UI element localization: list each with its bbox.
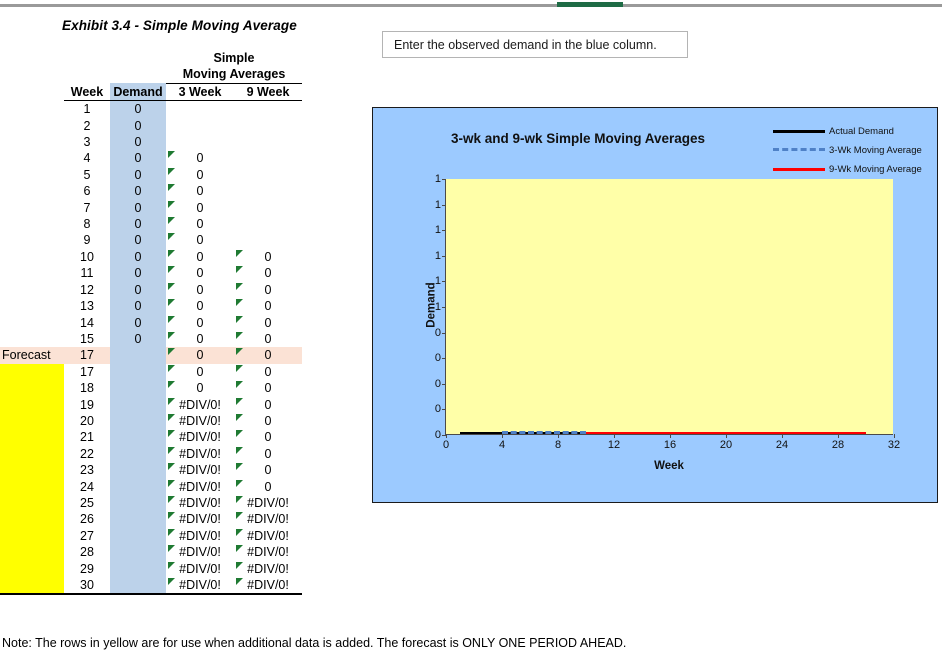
cell-3-week-value: #DIV/0! <box>179 545 221 559</box>
cell-9-week-value: 0 <box>265 266 272 280</box>
cell-9-week: 0 <box>234 331 302 347</box>
cell-demand[interactable] <box>110 577 166 594</box>
cell-9-week-value: 0 <box>265 447 272 461</box>
table-row: 26#DIV/0!#DIV/0! <box>0 511 302 527</box>
cell-9-week-value: 0 <box>265 398 272 412</box>
cell-9-week-value: 0 <box>265 463 272 477</box>
cell-week: 13 <box>64 298 110 314</box>
cell-3-week: #DIV/0! <box>166 511 234 527</box>
cell-9-week <box>234 200 302 216</box>
cell-demand[interactable] <box>110 429 166 445</box>
cell-3-week-value: #DIV/0! <box>179 529 221 543</box>
cell-3-week-value: #DIV/0! <box>179 463 221 477</box>
cell-demand[interactable]: 0 <box>110 150 166 166</box>
error-indicator-icon <box>236 545 243 552</box>
column-header-demand: Demand <box>110 83 166 100</box>
legend-item-ma9: 9-Wk Moving Average <box>773 161 923 177</box>
x-tick-label: 16 <box>664 439 676 451</box>
cell-3-week-value: 0 <box>197 151 204 165</box>
cell-demand[interactable]: 0 <box>110 331 166 347</box>
cell-week: 17 <box>64 364 110 380</box>
cell-demand[interactable]: 0 <box>110 200 166 216</box>
y-tick-label: 1 <box>435 301 441 313</box>
cell-9-week-value: #DIV/0! <box>247 545 289 559</box>
note-spacer-cell <box>0 101 64 118</box>
error-indicator-icon <box>236 512 243 519</box>
cell-3-week-value: 0 <box>197 316 204 330</box>
cell-week: 25 <box>64 495 110 511</box>
error-indicator-icon <box>168 217 175 224</box>
x-tick-label: 8 <box>555 439 561 451</box>
cell-3-week: 0 <box>166 216 234 232</box>
cell-3-week-value: 0 <box>197 365 204 379</box>
cell-3-week-value: #DIV/0! <box>179 480 221 494</box>
ribbon-active-tab[interactable] <box>557 2 623 7</box>
error-indicator-icon <box>168 463 175 470</box>
cell-3-week: #DIV/0! <box>166 561 234 577</box>
cell-9-week-value: #DIV/0! <box>247 496 289 510</box>
cell-week: 2 <box>64 118 110 134</box>
cell-9-week <box>234 183 302 199</box>
legend-item-actual-demand: Actual Demand <box>773 123 923 139</box>
error-indicator-icon <box>168 496 175 503</box>
cell-demand[interactable] <box>110 364 166 380</box>
table-row: 19#DIV/0!0 <box>0 397 302 413</box>
cell-week: 12 <box>64 282 110 298</box>
cell-demand[interactable] <box>110 462 166 478</box>
table-row: 25#DIV/0!#DIV/0! <box>0 495 302 511</box>
error-indicator-icon <box>168 414 175 421</box>
worksheet-grid: SimpleMoving AveragesWeekDemand3 Week9 W… <box>0 50 302 595</box>
error-indicator-icon <box>236 283 243 290</box>
yellow-spacer-cell <box>0 462 64 478</box>
cell-3-week-value: #DIV/0! <box>179 398 221 412</box>
column-header-3-week: 3 Week <box>166 83 234 100</box>
error-indicator-icon <box>236 299 243 306</box>
cell-demand[interactable] <box>110 528 166 544</box>
cell-week: 5 <box>64 167 110 183</box>
cell-3-week: #DIV/0! <box>166 495 234 511</box>
y-tick-label: 1 <box>435 224 441 236</box>
cell-demand[interactable] <box>110 413 166 429</box>
cell-3-week: 0 <box>166 282 234 298</box>
cell-9-week: #DIV/0! <box>234 544 302 560</box>
cell-9-week-value: #DIV/0! <box>247 562 289 576</box>
yellow-spacer-cell <box>0 446 64 462</box>
cell-9-week <box>234 118 302 134</box>
page-title: Exhibit 3.4 - Simple Moving Average <box>62 18 382 33</box>
table-group-header-row-2: Moving Averages <box>0 66 302 83</box>
cell-3-week: #DIV/0! <box>166 413 234 429</box>
y-tick-label: 0 <box>435 352 441 364</box>
table-row: 10000 <box>0 249 302 265</box>
note-spacer-cell <box>0 134 64 150</box>
cell-9-week-value: 0 <box>265 365 272 379</box>
note-spacer-cell <box>0 167 64 183</box>
error-indicator-icon <box>236 250 243 257</box>
column-header-week: Week <box>64 83 110 100</box>
table-row: 30#DIV/0!#DIV/0! <box>0 577 302 594</box>
cell-3-week-value: 0 <box>197 233 204 247</box>
cell-demand[interactable] <box>110 397 166 413</box>
cell-9-week: #DIV/0! <box>234 495 302 511</box>
cell-9-week: 0 <box>234 364 302 380</box>
cell-3-week-value: 0 <box>197 250 204 264</box>
cell-week: 18 <box>64 380 110 396</box>
error-indicator-icon <box>168 233 175 240</box>
error-indicator-icon <box>168 381 175 388</box>
plot-area: 11111100000 048121620242832 <box>445 179 893 435</box>
cell-demand[interactable]: 0 <box>110 118 166 134</box>
table-row: 600 <box>0 183 302 199</box>
error-indicator-icon <box>236 447 243 454</box>
cell-3-week-value: #DIV/0! <box>179 496 221 510</box>
error-indicator-icon <box>168 299 175 306</box>
ribbon-strip <box>0 4 942 7</box>
cell-week: 24 <box>64 479 110 495</box>
cell-week: 3 <box>64 134 110 150</box>
cell-3-week-value: 0 <box>197 283 204 297</box>
yellow-spacer-cell <box>0 495 64 511</box>
cell-9-week: 0 <box>234 380 302 396</box>
cell-3-week <box>166 118 234 134</box>
cell-9-week-value: 0 <box>265 283 272 297</box>
cell-week: 14 <box>64 315 110 331</box>
note-spacer-cell <box>0 232 64 248</box>
cell-week: 17 <box>64 347 110 363</box>
cell-3-week-value: #DIV/0! <box>179 562 221 576</box>
legend-label-actual-demand: Actual Demand <box>829 126 894 137</box>
series-3wk-moving-average <box>502 431 586 434</box>
error-indicator-icon <box>168 250 175 257</box>
cell-9-week: #DIV/0! <box>234 577 302 594</box>
cell-9-week: 0 <box>234 249 302 265</box>
table-row: 11000 <box>0 265 302 281</box>
cell-demand[interactable]: 0 <box>110 134 166 150</box>
cell-week: 9 <box>64 232 110 248</box>
cell-3-week: 0 <box>166 347 234 363</box>
y-tick-label: 0 <box>435 378 441 390</box>
cell-9-week <box>234 167 302 183</box>
cell-9-week-value: 0 <box>265 332 272 346</box>
cell-3-week: #DIV/0! <box>166 479 234 495</box>
cell-demand[interactable]: 0 <box>110 183 166 199</box>
error-indicator-icon <box>236 562 243 569</box>
cell-demand[interactable]: 0 <box>110 282 166 298</box>
error-indicator-icon <box>236 316 243 323</box>
x-tick-label: 0 <box>443 439 449 451</box>
legend-swatch-ma9 <box>773 163 825 175</box>
cell-3-week-value: 0 <box>197 201 204 215</box>
error-indicator-icon <box>236 430 243 437</box>
error-indicator-icon <box>168 545 175 552</box>
yellow-spacer-cell <box>0 561 64 577</box>
yellow-spacer-cell <box>0 413 64 429</box>
table-row: 13000 <box>0 298 302 314</box>
cell-9-week: 0 <box>234 298 302 314</box>
error-indicator-icon <box>168 348 175 355</box>
cell-9-week-value: #DIV/0! <box>247 578 289 592</box>
table-row: 800 <box>0 216 302 232</box>
cell-week: 21 <box>64 429 110 445</box>
error-indicator-icon <box>168 365 175 372</box>
cell-3-week-value: #DIV/0! <box>179 512 221 526</box>
table-row: 20 <box>0 118 302 134</box>
cell-demand[interactable] <box>110 479 166 495</box>
error-indicator-icon <box>236 266 243 273</box>
legend-label-ma9: 9-Wk Moving Average <box>829 164 922 175</box>
cell-9-week-value: 0 <box>265 250 272 264</box>
instruction-text: Enter the observed demand in the blue co… <box>394 38 657 52</box>
note-spacer-cell <box>0 200 64 216</box>
error-indicator-icon <box>168 529 175 536</box>
cell-week: 19 <box>64 397 110 413</box>
cell-9-week-value: #DIV/0! <box>247 512 289 526</box>
cell-9-week-value: 0 <box>265 299 272 313</box>
cell-3-week-value: #DIV/0! <box>179 447 221 461</box>
cell-3-week: 0 <box>166 183 234 199</box>
cell-3-week: #DIV/0! <box>166 462 234 478</box>
cell-week: 4 <box>64 150 110 166</box>
cell-3-week-value: #DIV/0! <box>179 430 221 444</box>
column-header-9-week: 9 Week <box>234 83 302 100</box>
error-indicator-icon <box>168 266 175 273</box>
cell-3-week-value: 0 <box>197 184 204 198</box>
cell-week: 10 <box>64 249 110 265</box>
table-row: 1800 <box>0 380 302 396</box>
error-indicator-icon <box>236 529 243 536</box>
note-spacer-cell <box>0 118 64 134</box>
error-indicator-icon <box>236 496 243 503</box>
cell-9-week-value: 0 <box>265 381 272 395</box>
cell-9-week: 0 <box>234 429 302 445</box>
cell-3-week: 0 <box>166 315 234 331</box>
table-row: 30 <box>0 134 302 150</box>
cell-demand[interactable]: 0 <box>110 101 166 118</box>
x-tick-label: 28 <box>832 439 844 451</box>
cell-demand[interactable] <box>110 511 166 527</box>
cell-9-week-value: 0 <box>265 316 272 330</box>
error-indicator-icon <box>168 283 175 290</box>
error-indicator-icon <box>168 168 175 175</box>
cell-week: 27 <box>64 528 110 544</box>
cell-9-week: 0 <box>234 347 302 363</box>
y-tick-label: 0 <box>435 327 441 339</box>
cell-3-week: 0 <box>166 331 234 347</box>
cell-demand[interactable]: 0 <box>110 249 166 265</box>
cell-3-week-value: 0 <box>197 381 204 395</box>
note-spacer-cell <box>0 216 64 232</box>
series-9wk-moving-average <box>586 432 866 434</box>
cell-9-week <box>234 216 302 232</box>
table-row: 22#DIV/0!0 <box>0 446 302 462</box>
cell-9-week: 0 <box>234 282 302 298</box>
table-row: 28#DIV/0!#DIV/0! <box>0 544 302 560</box>
cell-3-week: 0 <box>166 364 234 380</box>
moving-average-chart[interactable]: 3-wk and 9-wk Simple Moving Averages Act… <box>372 107 938 503</box>
cell-9-week: 0 <box>234 265 302 281</box>
cell-9-week: #DIV/0! <box>234 528 302 544</box>
cell-3-week: 0 <box>166 265 234 281</box>
error-indicator-icon <box>168 447 175 454</box>
cell-3-week-value: 0 <box>197 348 204 362</box>
cell-9-week <box>234 101 302 118</box>
table-row: 24#DIV/0!0 <box>0 479 302 495</box>
cell-9-week: 0 <box>234 462 302 478</box>
cell-demand[interactable] <box>110 544 166 560</box>
yellow-spacer-cell <box>0 544 64 560</box>
cell-demand[interactable] <box>110 446 166 462</box>
error-indicator-icon <box>236 578 243 585</box>
error-indicator-icon <box>168 316 175 323</box>
cell-9-week-value: 0 <box>265 480 272 494</box>
yellow-spacer-cell <box>0 429 64 445</box>
error-indicator-icon <box>168 578 175 585</box>
footnote: Note: The rows in yellow are for use whe… <box>2 636 932 650</box>
cell-3-week-value: #DIV/0! <box>179 578 221 592</box>
table-row: 29#DIV/0!#DIV/0! <box>0 561 302 577</box>
table-row: 14000 <box>0 315 302 331</box>
cell-week: 26 <box>64 511 110 527</box>
cell-3-week: #DIV/0! <box>166 544 234 560</box>
error-indicator-icon <box>168 151 175 158</box>
moving-average-table: SimpleMoving AveragesWeekDemand3 Week9 W… <box>0 50 320 595</box>
cell-9-week: 0 <box>234 413 302 429</box>
error-indicator-icon <box>168 184 175 191</box>
cell-demand[interactable]: 0 <box>110 315 166 331</box>
cell-3-week: 0 <box>166 150 234 166</box>
x-tick-label: 20 <box>720 439 732 451</box>
cell-demand[interactable]: 0 <box>110 232 166 248</box>
note-spacer-cell <box>0 150 64 166</box>
yellow-spacer-cell <box>0 528 64 544</box>
error-indicator-icon <box>236 365 243 372</box>
yellow-spacer-cell <box>0 511 64 527</box>
cell-9-week <box>234 150 302 166</box>
cell-9-week-value: 0 <box>265 414 272 428</box>
cell-3-week-value: 0 <box>197 332 204 346</box>
cell-week: 6 <box>64 183 110 199</box>
y-tick-label: 1 <box>435 250 441 262</box>
legend-item-ma3: 3-Wk Moving Average <box>773 142 923 158</box>
legend-swatch-ma3 <box>773 144 825 156</box>
cell-3-week: 0 <box>166 380 234 396</box>
yellow-spacer-cell <box>0 364 64 380</box>
cell-3-week: 0 <box>166 200 234 216</box>
cell-3-week-value: 0 <box>197 299 204 313</box>
cell-9-week <box>234 134 302 150</box>
error-indicator-icon <box>236 348 243 355</box>
legend-label-ma3: 3-Wk Moving Average <box>829 145 922 156</box>
instruction-callout: Enter the observed demand in the blue co… <box>382 31 688 58</box>
x-axis-title: Week <box>445 460 893 472</box>
chart-legend: Actual Demand 3-Wk Moving Average 9-Wk M… <box>773 123 923 180</box>
table-row: 23#DIV/0!0 <box>0 462 302 478</box>
cell-demand[interactable]: 0 <box>110 298 166 314</box>
table-row: 900 <box>0 232 302 248</box>
legend-swatch-actual-demand <box>773 125 825 137</box>
cell-3-week: #DIV/0! <box>166 429 234 445</box>
forecast-label: Forecast <box>0 347 64 363</box>
error-indicator-icon <box>168 332 175 339</box>
cell-demand[interactable]: 0 <box>110 265 166 281</box>
chart-title: 3-wk and 9-wk Simple Moving Averages <box>413 131 743 146</box>
cell-week: 29 <box>64 561 110 577</box>
cell-demand[interactable] <box>110 561 166 577</box>
cell-3-week: 0 <box>166 249 234 265</box>
cell-week: 8 <box>64 216 110 232</box>
cell-demand[interactable] <box>110 495 166 511</box>
yellow-spacer-cell <box>0 397 64 413</box>
cell-week: 20 <box>64 413 110 429</box>
yellow-spacer-cell <box>0 577 64 594</box>
note-spacer-cell <box>0 249 64 265</box>
cell-demand[interactable]: 0 <box>110 167 166 183</box>
table-row: 400 <box>0 150 302 166</box>
note-spacer-cell <box>0 265 64 281</box>
y-tick-label: 1 <box>435 275 441 287</box>
cell-3-week: #DIV/0! <box>166 446 234 462</box>
cell-week: 23 <box>64 462 110 478</box>
error-indicator-icon <box>168 512 175 519</box>
table-row: 15000 <box>0 331 302 347</box>
table-row: 21#DIV/0!0 <box>0 429 302 445</box>
y-tick-label: 1 <box>435 173 441 185</box>
error-indicator-icon <box>236 480 243 487</box>
table-header-row: WeekDemand3 Week9 Week <box>0 83 302 100</box>
error-indicator-icon <box>168 201 175 208</box>
cell-3-week: #DIV/0! <box>166 577 234 594</box>
table-row: 700 <box>0 200 302 216</box>
cell-9-week: 0 <box>234 446 302 462</box>
x-tick-label: 12 <box>608 439 620 451</box>
cell-9-week: 0 <box>234 315 302 331</box>
error-indicator-icon <box>236 381 243 388</box>
group-header-line1: Simple <box>166 50 302 66</box>
y-tick-label: 0 <box>435 429 441 441</box>
note-spacer-cell <box>0 183 64 199</box>
yellow-spacer-cell <box>0 479 64 495</box>
table-row: 20#DIV/0!0 <box>0 413 302 429</box>
cell-week: 15 <box>64 331 110 347</box>
cell-demand[interactable] <box>110 347 166 363</box>
note-spacer-cell <box>0 315 64 331</box>
note-spacer-cell <box>0 282 64 298</box>
cell-week: 28 <box>64 544 110 560</box>
cell-3-week: 0 <box>166 167 234 183</box>
note-spacer-cell <box>0 331 64 347</box>
y-tick-label: 1 <box>435 199 441 211</box>
error-indicator-icon <box>236 463 243 470</box>
note-spacer-cell <box>0 298 64 314</box>
x-tick-label: 32 <box>888 439 900 451</box>
error-indicator-icon <box>236 414 243 421</box>
cell-9-week-value: #DIV/0! <box>247 529 289 543</box>
table-row: 1700 <box>0 364 302 380</box>
cell-3-week-value: #DIV/0! <box>179 414 221 428</box>
cell-3-week-value: 0 <box>197 217 204 231</box>
cell-demand[interactable]: 0 <box>110 216 166 232</box>
error-indicator-icon <box>236 398 243 405</box>
y-tick-label: 0 <box>435 403 441 415</box>
cell-9-week: #DIV/0! <box>234 561 302 577</box>
cell-3-week: #DIV/0! <box>166 397 234 413</box>
error-indicator-icon <box>236 332 243 339</box>
cell-3-week: #DIV/0! <box>166 528 234 544</box>
table-row: 500 <box>0 167 302 183</box>
cell-demand[interactable] <box>110 380 166 396</box>
cell-week: 1 <box>64 101 110 118</box>
